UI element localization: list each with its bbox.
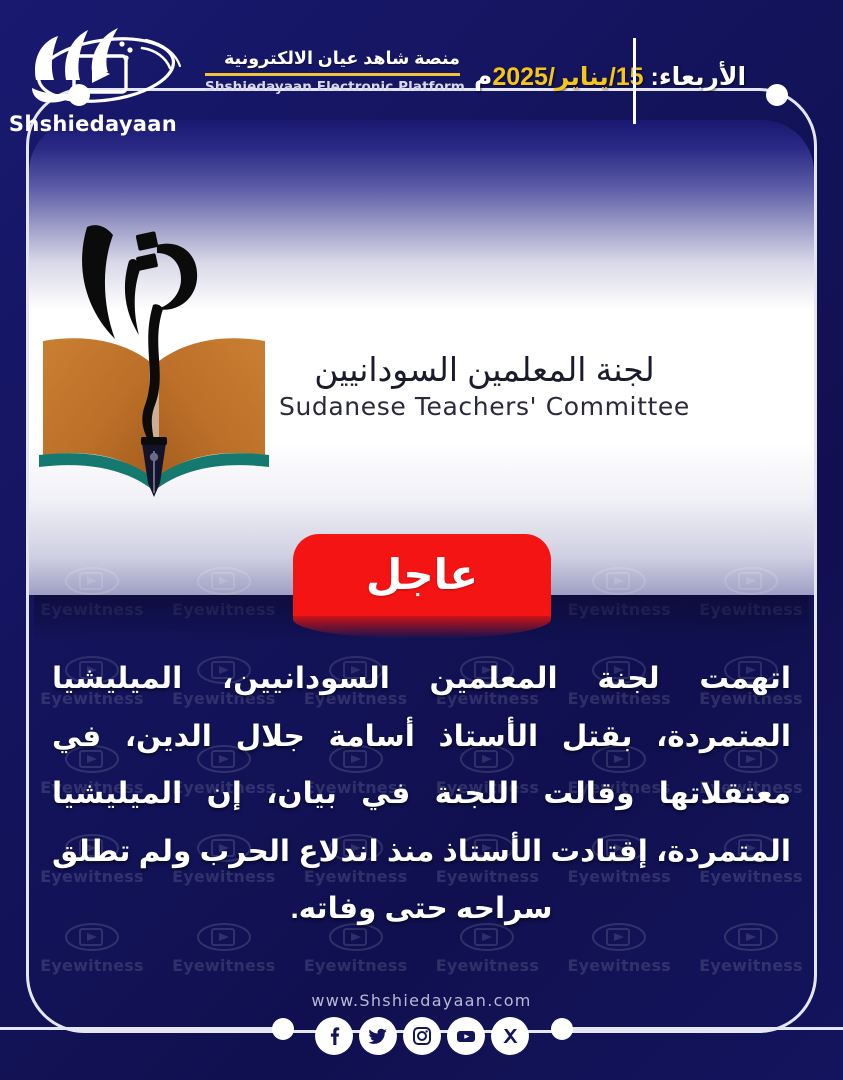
brand-logo: Shshiedayaan (0, 0, 205, 150)
frame-dot-top-right (766, 84, 788, 106)
frame-dot-top-left (68, 84, 90, 106)
platform-divider-rule (205, 73, 460, 76)
date-weekday: الأربعاء: (651, 63, 747, 91)
news-body: اتهمت لجنة المعلمين السودانيين، الميليشي… (34, 595, 809, 995)
poster-footer: www.Shshiedayaan.com (0, 985, 843, 1080)
facebook-icon[interactable] (315, 1017, 353, 1055)
brand-divider (633, 38, 636, 124)
frame-dot-bottom-right (551, 1018, 573, 1040)
committee-name-block: لجنة المعلمين السودانيين Sudanese Teache… (279, 349, 690, 421)
platform-title-block: منصة شاهد عيان الالكترونية Shshiedayaan … (205, 48, 460, 95)
committee-card: لجنة المعلمين السودانيين Sudanese Teache… (29, 120, 814, 595)
social-links (0, 1017, 843, 1055)
youtube-icon[interactable] (447, 1017, 485, 1055)
publication-date: الأربعاء: 15/يناير/2025م (474, 62, 746, 92)
committee-name-ar: لجنة المعلمين السودانيين (279, 349, 690, 390)
platform-name-ar: منصة شاهد عيان الالكترونية (205, 48, 460, 69)
urgent-badge-reflection (293, 616, 551, 639)
bottom-rule-left (0, 1027, 276, 1030)
urgent-badge: عاجل (293, 534, 551, 639)
instagram-icon[interactable] (403, 1017, 441, 1055)
committee-identity: لجنة المعلمين السودانيين Sudanese Teache… (29, 190, 814, 520)
urgent-badge-label: عاجل (366, 554, 478, 596)
site-url-label[interactable]: www.Shshiedayaan.com (0, 991, 843, 1010)
x-icon[interactable] (491, 1017, 529, 1055)
platform-name-en: Shshiedayaan Electronic Platform (205, 79, 460, 95)
twitter-icon[interactable] (359, 1017, 397, 1055)
news-body-text: اتهمت لجنة المعلمين السودانيين، الميليشي… (52, 650, 791, 938)
urgent-badge-body: عاجل (293, 534, 551, 616)
news-poster: Shshiedayaan منصة شاهد عيان الالكترونية … (0, 0, 843, 1080)
brand-mark-icon (14, 14, 199, 110)
poster-header: Shshiedayaan منصة شاهد عيان الالكترونية … (0, 0, 843, 150)
brand-name-label: Shshiedayaan (9, 112, 177, 136)
date-era-suffix: م (474, 63, 492, 91)
frame-dot-bottom-left (272, 1018, 294, 1040)
committee-name-en: Sudanese Teachers' Committee (279, 392, 690, 421)
open-book-with-quill-emblem-icon (29, 205, 279, 505)
bottom-rule-right (568, 1027, 843, 1030)
date-value: 15/يناير/2025 (492, 63, 643, 91)
